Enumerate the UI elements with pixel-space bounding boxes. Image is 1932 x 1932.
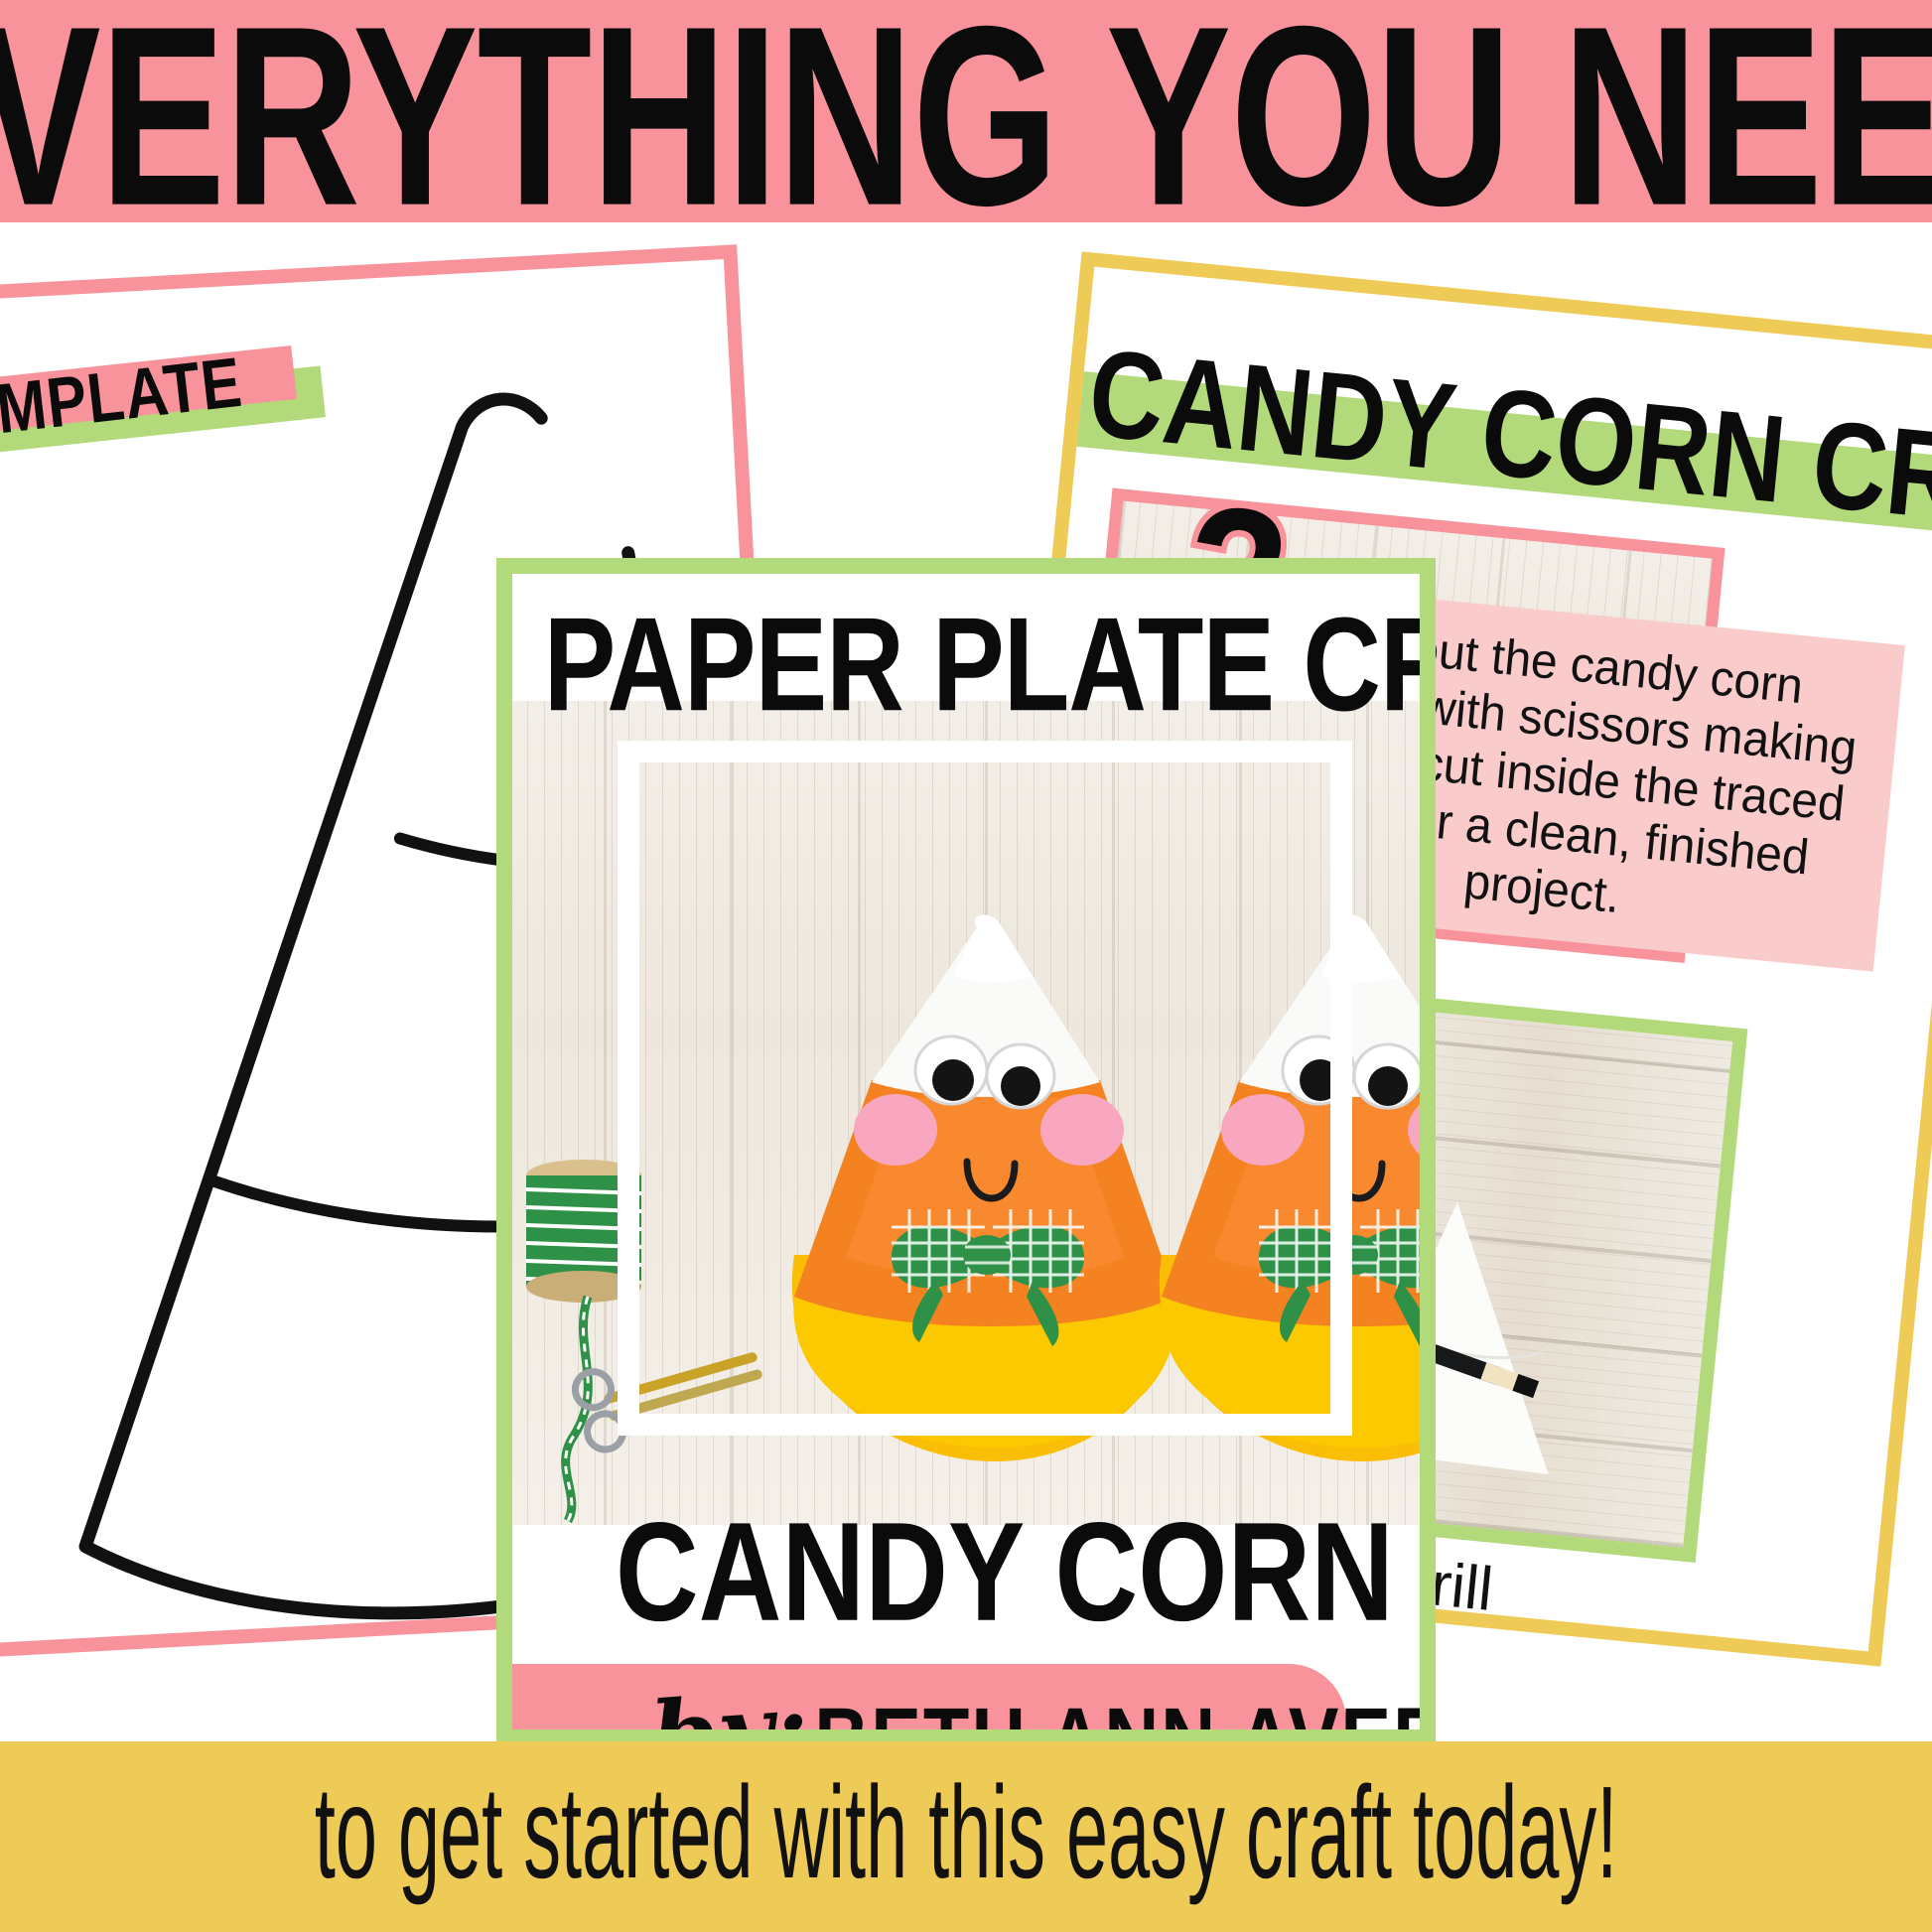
candy-corn-craft-left	[792, 915, 1178, 1461]
main-card-subtitle: CANDY CORN	[616, 1490, 1394, 1652]
footer-text: to get started with this easy craft toda…	[315, 1757, 1617, 1909]
by-word: by:	[647, 1671, 812, 1745]
paper-plate-craft-card: PAPER PLATE CRAFT	[496, 558, 1436, 1745]
two-candy-corn-paper-plates-photo	[496, 701, 1436, 1525]
footer-banner: to get started with this easy craft toda…	[0, 1741, 1932, 1932]
main-card-title: PAPER PLATE CRAFT	[544, 588, 1436, 742]
candy-corn-craft-right	[1160, 915, 1436, 1461]
author-name: BETH ANN AVERILL	[814, 1689, 1436, 1745]
scissors	[571, 1326, 770, 1453]
main-card-byline: by: BETH ANN AVERILL	[651, 1662, 1436, 1745]
header-banner: EVERYTHING YOU NEED	[0, 0, 1932, 222]
page-title: EVERYTHING YOU NEED	[0, 7, 1932, 222]
twine-spool	[526, 1160, 641, 1521]
